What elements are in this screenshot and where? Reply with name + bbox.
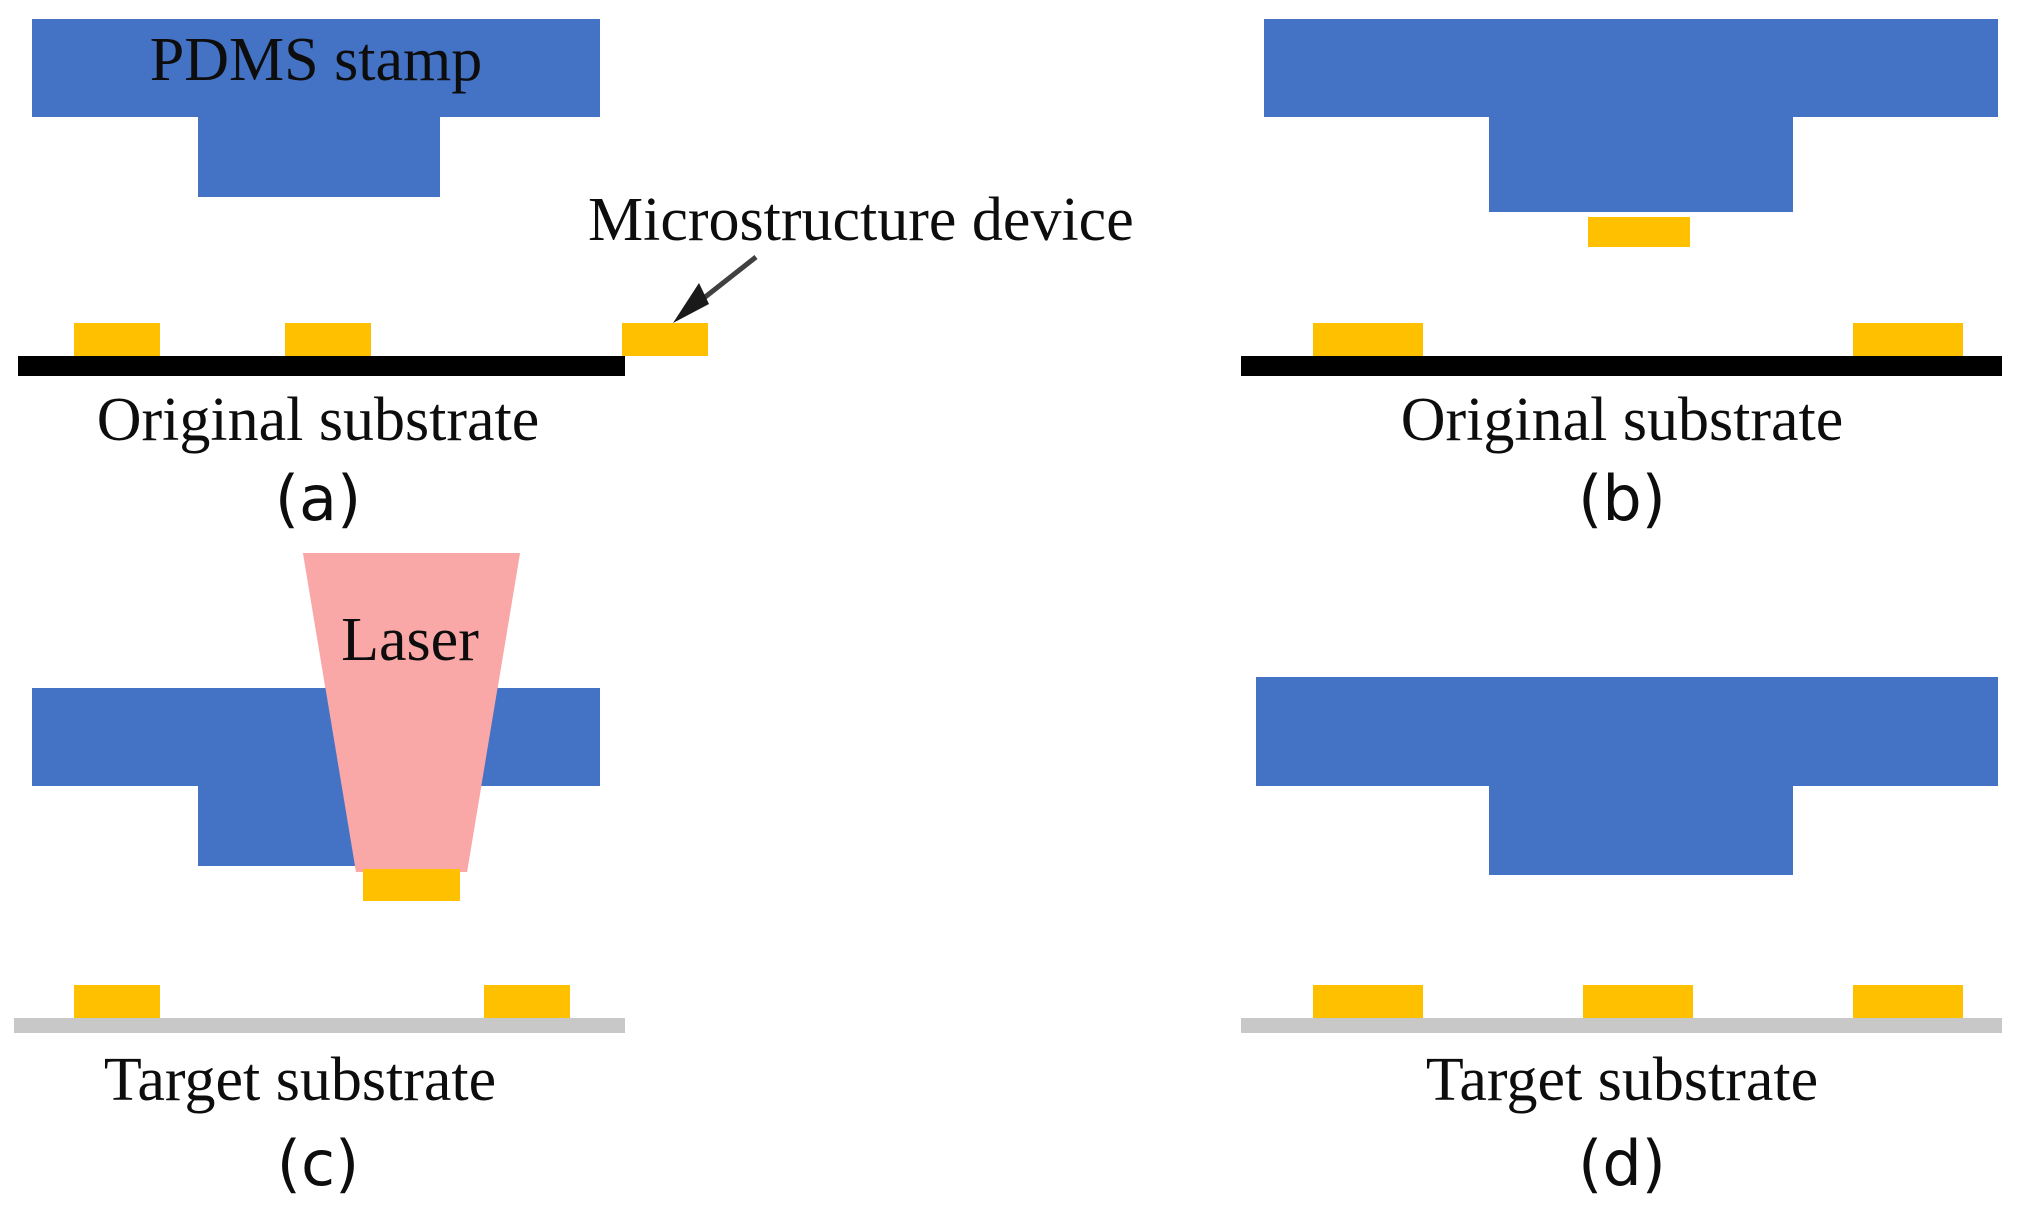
- microstructure-device: [1853, 985, 1963, 1018]
- laser-label: Laser: [341, 606, 479, 674]
- microstructure-device: [74, 323, 160, 356]
- panel-label-b: (b): [1578, 462, 1666, 535]
- original-substrate-label: Original substrate: [1401, 386, 1844, 454]
- target-substrate-bar: [14, 1018, 625, 1033]
- panel-label-a: (a): [275, 462, 361, 535]
- pdms-stamp-label: PDMS stamp: [150, 26, 482, 94]
- microstructure-device: [622, 323, 708, 356]
- microstructure-device: [484, 985, 570, 1018]
- microstructure-device: [1313, 985, 1423, 1018]
- process-diagram-figure: PDMS stamp Microstructure device Origina…: [0, 0, 2019, 1220]
- microstructure-device: [1313, 323, 1423, 356]
- original-substrate-bar: [18, 356, 625, 376]
- microstructure-device: [1853, 323, 1963, 356]
- original-substrate-bar: [1241, 356, 2002, 376]
- microstructure-device: [1583, 985, 1693, 1018]
- original-substrate-label: Original substrate: [97, 386, 540, 454]
- panel-label-d: (d): [1578, 1127, 1666, 1200]
- microstructure-device: [74, 985, 160, 1018]
- target-substrate-label: Target substrate: [1426, 1046, 1818, 1114]
- panel-label-c: (c): [277, 1127, 359, 1200]
- target-substrate-bar: [1241, 1018, 2002, 1033]
- microstructure-device-label: Microstructure device: [588, 186, 1134, 254]
- microstructure-device-on-stamp: [363, 869, 460, 901]
- microstructure-device-on-stamp: [1588, 217, 1690, 247]
- target-substrate-label: Target substrate: [104, 1046, 496, 1114]
- microstructure-device: [285, 323, 371, 356]
